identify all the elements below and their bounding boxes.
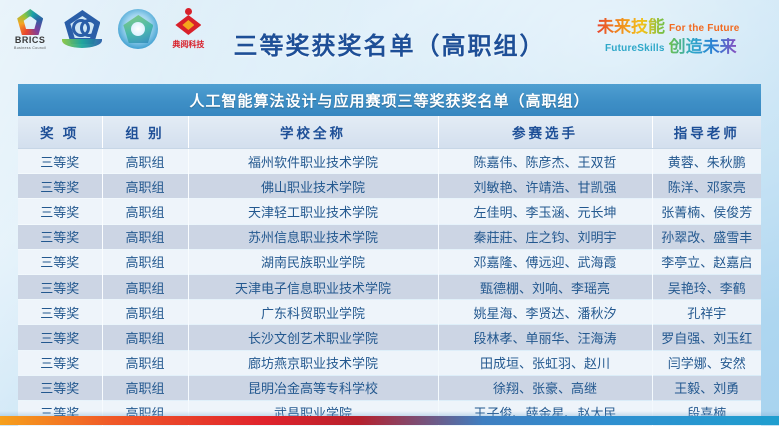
- cell-coaches: 罗自强、刘玉红: [652, 325, 761, 350]
- cell-coaches: 吴艳玲、李鹤: [652, 274, 761, 299]
- cell-school: 福州软件职业技术学院: [188, 149, 438, 174]
- cell-coaches: 闫学娜、安然: [652, 350, 761, 375]
- cell-coaches: 张菁楠、侯俊芳: [652, 199, 761, 224]
- cell-school: 昆明冶金高等专科学校: [188, 375, 438, 400]
- table-head: 奖 项 组 别 学校全称 参赛选手 指导老师: [18, 116, 761, 149]
- cell-award: 三等奖: [18, 350, 102, 375]
- future-skills-logo: 未来技能 For the Future FutureSkills 创造未来: [597, 18, 769, 62]
- column-header-school: 学校全称: [188, 116, 438, 149]
- cell-award: 三等奖: [18, 149, 102, 174]
- table-row: 三等奖高职组福州软件职业技术学院陈嘉伟、陈彦杰、王双哲黄蓉、朱秋鹏: [18, 149, 761, 174]
- cell-players: 邓嘉隆、傅远迎、武海霞: [438, 249, 652, 274]
- cell-award: 三等奖: [18, 224, 102, 249]
- cell-group: 高职组: [102, 375, 188, 400]
- cell-coaches: 孔祥宇: [652, 300, 761, 325]
- cell-school: 广东科贸职业学院: [188, 300, 438, 325]
- column-header-award: 奖 项: [18, 116, 102, 149]
- cell-players: 段林孝、单丽华、汪海涛: [438, 325, 652, 350]
- cell-school: 廊坊燕京职业技术学院: [188, 350, 438, 375]
- cell-group: 高职组: [102, 174, 188, 199]
- cell-award: 三等奖: [18, 174, 102, 199]
- table-body: 三等奖高职组福州软件职业技术学院陈嘉伟、陈彦杰、王双哲黄蓉、朱秋鹏三等奖高职组佛…: [18, 149, 761, 426]
- table-row: 三等奖高职组苏州信息职业技术学院秦莊莊、庄之钧、刘明宇孙翠改、盛雪丰: [18, 224, 761, 249]
- cell-players: 陈嘉伟、陈彦杰、王双哲: [438, 149, 652, 174]
- cell-coaches: 陈洋、邓家亮: [652, 174, 761, 199]
- cell-players: 甄德棚、刘响、李瑶亮: [438, 274, 652, 299]
- table-row: 三等奖高职组佛山职业技术学院刘敏艳、许靖浩、甘凯强陈洋、邓家亮: [18, 174, 761, 199]
- page-header: BRICS Business Council 典阅科技 三等奖获奖名单（高职组）: [0, 0, 779, 80]
- cell-players: 刘敏艳、许靖浩、甘凯强: [438, 174, 652, 199]
- future-skills-en-line1: For the Future: [669, 24, 740, 35]
- cell-award: 三等奖: [18, 249, 102, 274]
- cell-school: 天津电子信息职业技术学院: [188, 274, 438, 299]
- cell-coaches: 李亭立、赵嘉启: [652, 249, 761, 274]
- cell-school: 湖南民族职业学院: [188, 249, 438, 274]
- cell-school: 长沙文创艺术职业学院: [188, 325, 438, 350]
- table-row: 三等奖高职组天津电子信息职业技术学院甄德棚、刘响、李瑶亮吴艳玲、李鹤: [18, 274, 761, 299]
- cell-award: 三等奖: [18, 300, 102, 325]
- column-header-group: 组 别: [102, 116, 188, 149]
- table-row: 三等奖高职组天津轻工职业技术学院左佳明、李玉涵、元长坤张菁楠、侯俊芳: [18, 199, 761, 224]
- cell-players: 田成垣、张虹羽、赵川: [438, 350, 652, 375]
- cell-group: 高职组: [102, 199, 188, 224]
- cell-coaches: 王毅、刘勇: [652, 375, 761, 400]
- cell-group: 高职组: [102, 350, 188, 375]
- cell-group: 高职组: [102, 274, 188, 299]
- cell-players: 姚星海、李贤达、潘秋汐: [438, 300, 652, 325]
- table-row: 三等奖高职组广东科贸职业学院姚星海、李贤达、潘秋汐孔祥宇: [18, 300, 761, 325]
- future-skills-cn-line2: 创造未来: [669, 38, 737, 55]
- column-header-coaches: 指导老师: [652, 116, 761, 149]
- future-skills-cn-line1: 未来技能: [597, 18, 665, 35]
- table-row: 三等奖高职组昆明冶金高等专科学校徐翔、张豪、高继王毅、刘勇: [18, 375, 761, 400]
- cell-award: 三等奖: [18, 325, 102, 350]
- award-table-container: 人工智能算法设计与应用赛项三等奖获奖名单（高职组） 奖 项 组 别 学校全称 参…: [18, 84, 761, 426]
- cell-group: 高职组: [102, 325, 188, 350]
- cell-group: 高职组: [102, 149, 188, 174]
- table-row: 三等奖高职组湖南民族职业学院邓嘉隆、傅远迎、武海霞李亭立、赵嘉启: [18, 249, 761, 274]
- cell-award: 三等奖: [18, 375, 102, 400]
- cell-award: 三等奖: [18, 274, 102, 299]
- footer-color-strip: [0, 416, 779, 425]
- table-row: 三等奖高职组廊坊燕京职业技术学院田成垣、张虹羽、赵川闫学娜、安然: [18, 350, 761, 375]
- cell-award: 三等奖: [18, 199, 102, 224]
- table-banner-title: 人工智能算法设计与应用赛项三等奖获奖名单（高职组）: [18, 84, 761, 116]
- future-skills-en-line2: FutureSkills: [605, 44, 665, 55]
- cell-school: 佛山职业技术学院: [188, 174, 438, 199]
- award-table: 奖 项 组 别 学校全称 参赛选手 指导老师 三等奖高职组福州软件职业技术学院陈…: [18, 116, 761, 426]
- cell-coaches: 黄蓉、朱秋鹏: [652, 149, 761, 174]
- cell-group: 高职组: [102, 224, 188, 249]
- cell-group: 高职组: [102, 300, 188, 325]
- cell-players: 左佳明、李玉涵、元长坤: [438, 199, 652, 224]
- cell-players: 秦莊莊、庄之钧、刘明宇: [438, 224, 652, 249]
- column-header-players: 参赛选手: [438, 116, 652, 149]
- table-row: 三等奖高职组长沙文创艺术职业学院段林孝、单丽华、汪海涛罗自强、刘玉红: [18, 325, 761, 350]
- cell-group: 高职组: [102, 249, 188, 274]
- cell-players: 徐翔、张豪、高继: [438, 375, 652, 400]
- table-header-row: 奖 项 组 别 学校全称 参赛选手 指导老师: [18, 116, 761, 149]
- cell-school: 天津轻工职业技术学院: [188, 199, 438, 224]
- cell-coaches: 孙翠改、盛雪丰: [652, 224, 761, 249]
- cell-school: 苏州信息职业技术学院: [188, 224, 438, 249]
